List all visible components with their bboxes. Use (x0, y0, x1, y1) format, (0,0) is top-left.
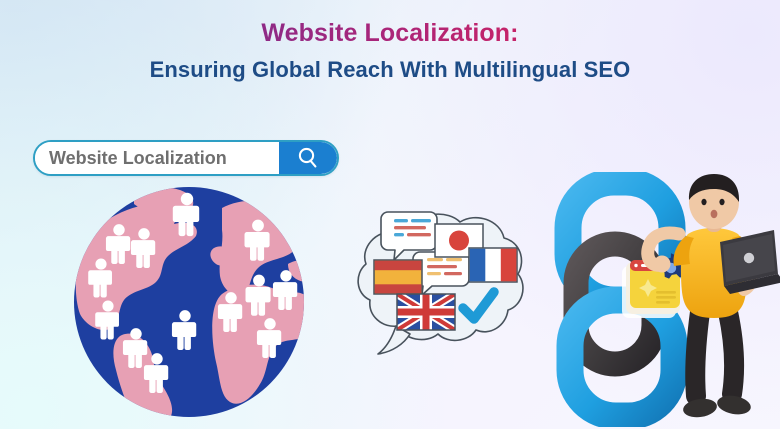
text-line (427, 265, 457, 268)
search-button[interactable] (279, 142, 337, 174)
text-line (444, 272, 462, 275)
person-leg-right (728, 312, 734, 394)
card-line (656, 296, 676, 299)
person-eye-right (719, 199, 724, 205)
flag-united-kingdom (397, 294, 455, 330)
text-line (411, 219, 431, 222)
text-line (446, 258, 462, 261)
page-subtitle: Ensuring Global Reach With Multilingual … (0, 57, 780, 84)
person-hand-left (654, 256, 671, 273)
card-line (656, 301, 670, 304)
text-line (394, 233, 404, 236)
search-icon (295, 145, 321, 171)
heading-block: Website Localization: Ensuring Global Re… (0, 18, 780, 83)
laptop-logo (744, 253, 754, 263)
speech-bubbles-illustration (352, 198, 532, 358)
text-line (427, 258, 443, 261)
search-input[interactable]: Website Localization (35, 142, 279, 174)
text-line (394, 226, 426, 229)
person-mouth (711, 210, 718, 218)
chain-person-illustration (548, 172, 780, 427)
flag-france (469, 248, 517, 282)
globe-illustration (72, 186, 307, 418)
search-bar[interactable]: Website Localization (33, 140, 339, 176)
person-eye-left (701, 199, 706, 205)
card-line (656, 291, 676, 294)
text-line (407, 233, 431, 236)
page-title: Website Localization: (261, 18, 518, 49)
text-line (394, 219, 408, 222)
person-shoe-right (716, 393, 753, 417)
search-input-value: Website Localization (49, 148, 227, 169)
person-leg-left (695, 312, 700, 396)
flag-spain (374, 260, 422, 294)
text-line (427, 272, 441, 275)
